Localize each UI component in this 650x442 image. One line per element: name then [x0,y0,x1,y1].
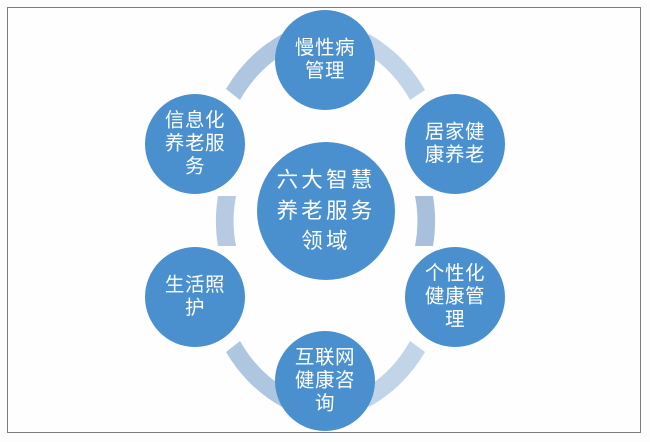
node-circle-home-health-elderly-care[interactable] [405,94,505,194]
node-circle-informatized-elderly-care-service[interactable] [145,94,245,194]
node-circle-personalized-health-management[interactable] [405,247,505,347]
node-circle-internet-health-consultation[interactable] [275,331,375,431]
center-circle[interactable] [257,142,395,280]
node-circle-chronic-disease-management[interactable] [275,10,375,110]
six-domain-cycle-diagram [0,0,650,442]
arc-daily-living-to-informatized [216,196,236,246]
diagram-canvas: 六大智慧 养老服务 领域 慢性病 管理 居家健 康养老 个性化 健康管 理 互联… [0,0,650,442]
node-circle-daily-living-care[interactable] [145,247,245,347]
arc-home-health-to-personalized [415,196,435,246]
